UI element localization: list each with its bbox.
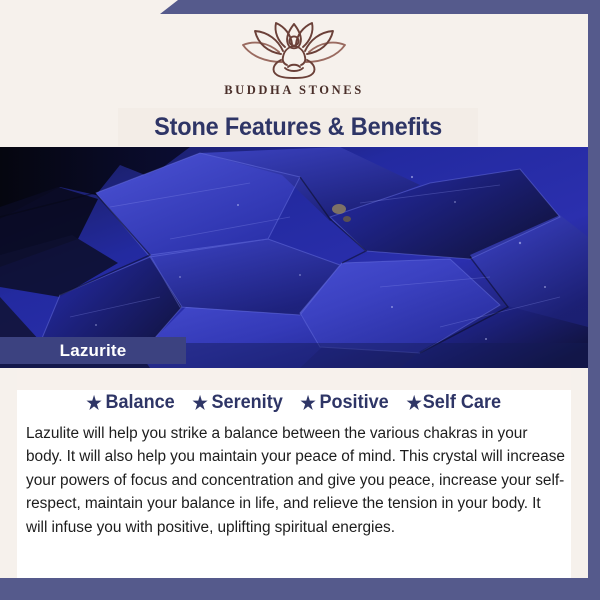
frame-bottom-band (0, 578, 600, 600)
star-icon: ★ (193, 394, 208, 412)
poster-card: BUDDHA STONES Stone Features & Benefits (0, 0, 588, 578)
brand-name: BUDDHA STONES (0, 83, 588, 98)
page-title: Stone Features & Benefits (154, 113, 442, 142)
stone-name: Lazurite (60, 341, 127, 361)
feature-list: ★ Balance ★ Serenity ★ Positive ★ Self C… (17, 392, 571, 414)
star-icon: ★ (86, 394, 101, 412)
header: BUDDHA STONES (0, 0, 588, 108)
feature-label: Positive (320, 392, 389, 414)
feature-item-positive: ★ Positive (301, 392, 389, 414)
feature-item-serenity: ★ Serenity (193, 392, 283, 414)
feature-item-balance: ★ Balance (86, 392, 174, 414)
description-panel: ★ Balance ★ Serenity ★ Positive ★ Self C… (17, 368, 571, 578)
lotus-meditation-icon (235, 18, 353, 80)
frame-right-band (588, 0, 600, 600)
feature-label: Serenity (212, 392, 283, 414)
feature-item-self-care: ★ Self Care (407, 392, 502, 414)
frame-top-band (160, 0, 600, 14)
feature-label: Balance (106, 392, 175, 414)
brand-logo: BUDDHA STONES (0, 18, 588, 98)
title-bar: Stone Features & Benefits (118, 108, 478, 146)
star-icon: ★ (301, 394, 316, 412)
stone-photo-image (0, 147, 588, 368)
panel-top-strip (17, 368, 571, 390)
stone-name-tag: Lazurite (0, 337, 186, 364)
star-icon: ★ (407, 394, 422, 412)
stone-info-poster: BUDDHA STONES Stone Features & Benefits (0, 0, 600, 600)
description-text: Lazulite will help you strike a balance … (26, 422, 566, 539)
feature-label: Self Care (423, 392, 501, 414)
stone-photo (0, 147, 588, 368)
